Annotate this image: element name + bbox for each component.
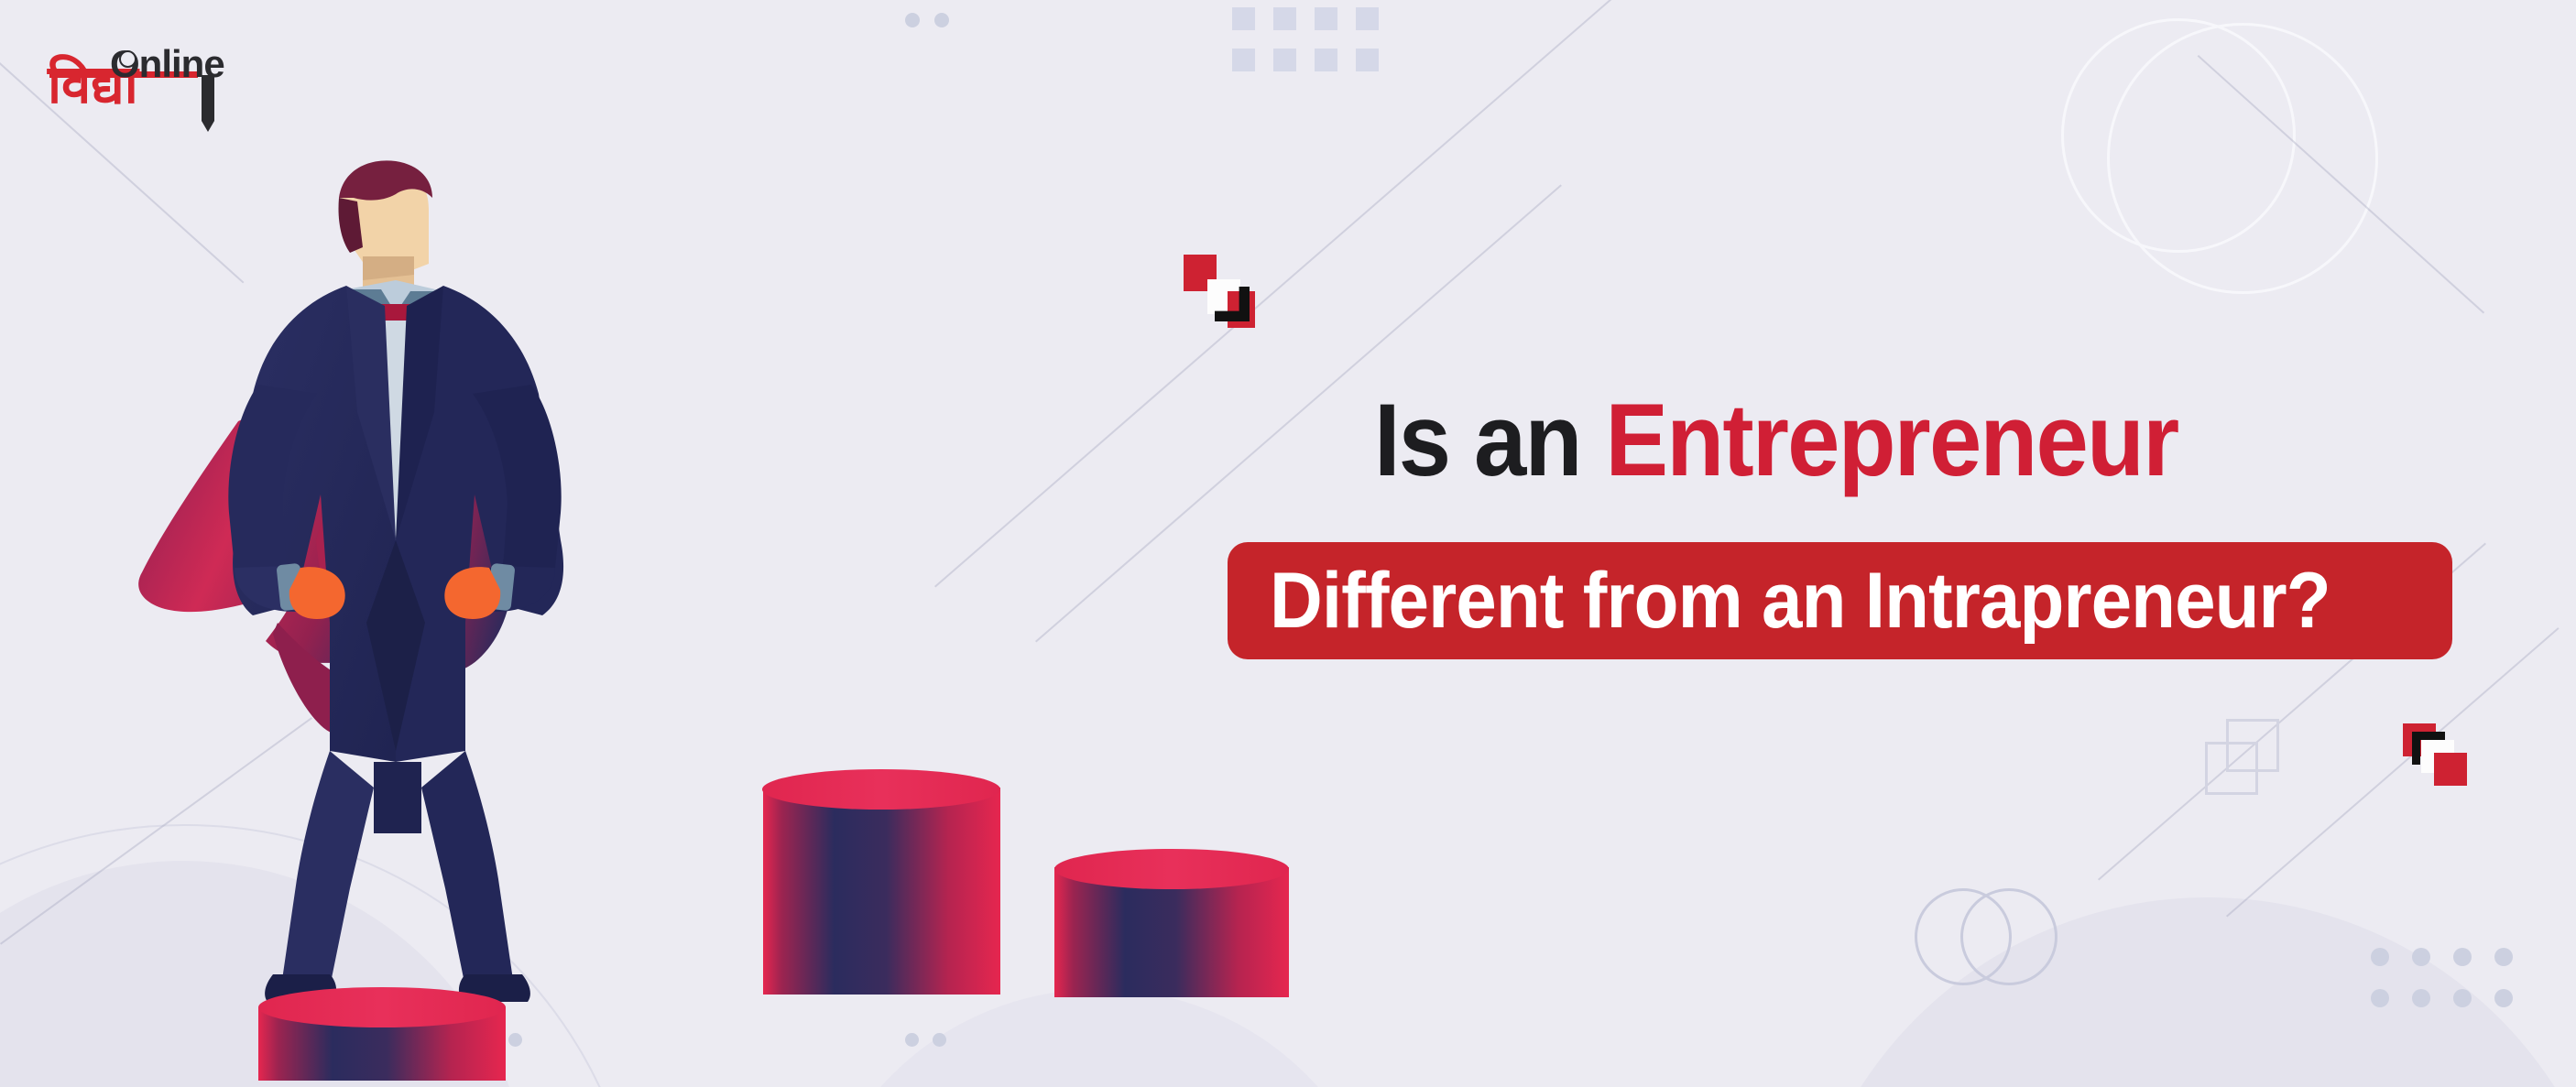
headline-part-one: Is an xyxy=(1374,383,1605,497)
bg-diagonal-line-7 xyxy=(2198,55,2484,314)
bg-grid-dot xyxy=(2453,948,2472,966)
bg-grid-dot xyxy=(2494,948,2513,966)
bg-grid-square xyxy=(1273,49,1296,71)
bg-grid-square xyxy=(1315,49,1337,71)
bg-square-outline-b xyxy=(2205,742,2258,795)
decor-square-black-lower xyxy=(2412,732,2445,765)
bg-grid-square xyxy=(1356,49,1379,71)
logo-globe-icon xyxy=(119,50,136,68)
bg-grid-dot xyxy=(2371,989,2389,1007)
decor-square-red-lower-2 xyxy=(2434,753,2467,786)
page-title: Is an Entrepreneur xyxy=(1374,389,2178,492)
bg-grid-dot xyxy=(2371,948,2389,966)
bg-grid-square xyxy=(1232,7,1255,30)
bg-grid-square xyxy=(1315,7,1337,30)
headline-part-two: Entrepreneur xyxy=(1605,383,2178,497)
bg-grid-dot xyxy=(2453,989,2472,1007)
bg-grid-dot xyxy=(2494,989,2513,1007)
bg-square-outline-a xyxy=(2226,719,2279,772)
bg-grid-dot xyxy=(2412,989,2430,1007)
bg-grid-square xyxy=(1356,7,1379,30)
bg-circle-bottom-right-large xyxy=(1796,897,2576,1087)
bg-ring-top-right-b xyxy=(2107,23,2378,294)
bg-grid-square xyxy=(1232,49,1255,71)
bg-grid-dot xyxy=(2412,948,2430,966)
bg-ring-mid-a xyxy=(1915,888,2012,985)
subtitle-text: Different from an Intrapreneur? xyxy=(1270,556,2330,647)
decor-square-red-lower-1 xyxy=(2403,723,2436,756)
banner-root: विद्या Online xyxy=(0,0,2576,1087)
bg-dot-top-a xyxy=(905,13,920,27)
leg-right xyxy=(421,751,513,987)
podium-mid xyxy=(756,767,1008,1001)
bg-diagonal-line-5 xyxy=(2226,627,2560,917)
crotch-shadow xyxy=(374,762,421,833)
leg-left xyxy=(282,751,374,987)
podium-short xyxy=(1049,847,1296,1003)
subtitle-pill: Different from an Intrapreneur? xyxy=(1228,542,2452,659)
bg-ring-top-right-a xyxy=(2061,18,2296,253)
podium-1-tall xyxy=(258,987,506,1081)
bg-dot-top-b xyxy=(934,13,949,27)
decor-square-white-lower xyxy=(2421,740,2454,773)
bg-grid-square xyxy=(1273,7,1296,30)
bg-ring-mid-b xyxy=(1960,888,2058,985)
